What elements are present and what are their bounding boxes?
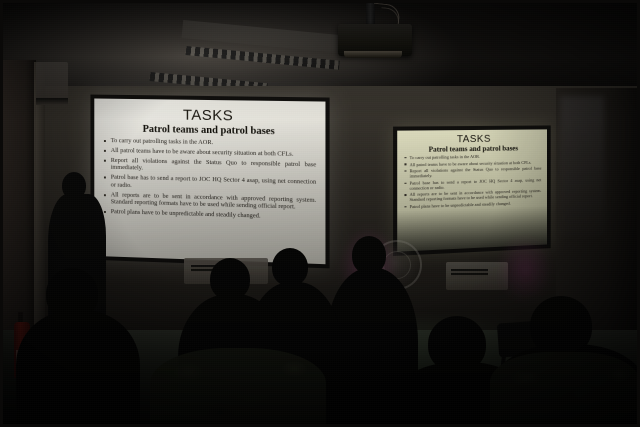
briefing-room-photo: TASKS Patrol teams and patrol bases To c… <box>0 0 640 427</box>
camouflage-uniform <box>150 348 326 427</box>
room: TASKS Patrol teams and patrol bases To c… <box>0 0 640 427</box>
camouflage-uniform <box>490 352 640 427</box>
pink-light-spill <box>498 236 552 302</box>
window-light-glow <box>560 96 604 236</box>
slide-bullet-list: To carry out patrolling tasks in the AOR… <box>402 153 542 210</box>
door-jamb <box>34 62 45 360</box>
list-item: Report all violations against the Status… <box>111 157 316 176</box>
ceiling-shadow <box>0 0 640 92</box>
projector-lens <box>344 51 402 58</box>
projection-screen-left[interactable]: TASKS Patrol teams and patrol bases To c… <box>90 95 329 269</box>
slide-content: TASKS Patrol teams and patrol bases To c… <box>94 98 325 264</box>
slide-bullet-list: To carry out patrolling tasks in the AOR… <box>101 137 318 222</box>
wall-air-conditioner-icon <box>36 62 68 102</box>
list-item: Patrol base has to send a report to JOC … <box>111 174 316 194</box>
torso <box>16 310 140 427</box>
head <box>272 248 308 286</box>
air-conditioner-vent <box>36 98 68 105</box>
screen-surface: TASKS Patrol teams and patrol bases To c… <box>94 98 325 264</box>
screen-surface: TASKS Patrol teams and patrol bases To c… <box>397 129 547 251</box>
radiator-grille <box>451 269 488 276</box>
